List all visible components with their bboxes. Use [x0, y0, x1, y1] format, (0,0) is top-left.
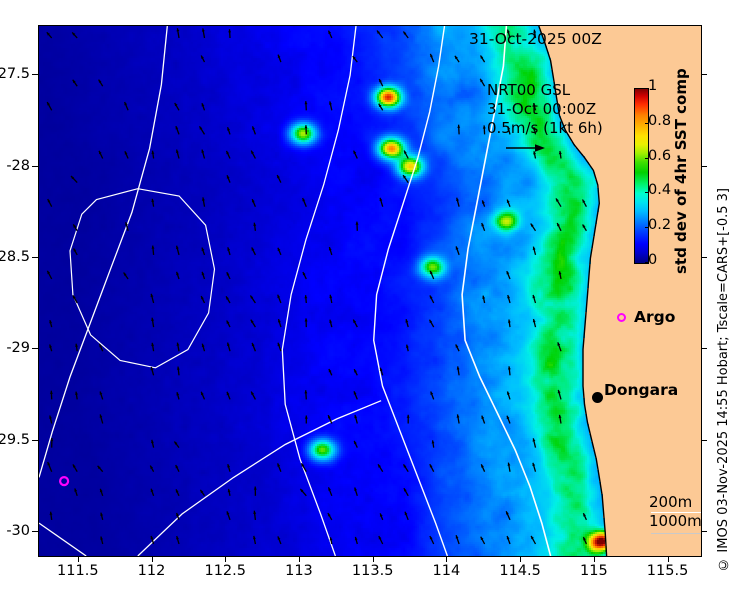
y-axis-tick-mark — [32, 348, 38, 349]
colorbar-tick-label: 0.4 — [648, 182, 671, 198]
y-axis-tick-mark — [32, 531, 38, 532]
bathymetry-1000m-label: 1000m — [649, 512, 702, 530]
x-axis-tick-label: 112.5 — [204, 563, 246, 579]
x-axis-tick-mark — [520, 556, 521, 562]
x-axis-tick-mark — [594, 556, 595, 562]
argo-legend-label: Argo — [634, 308, 675, 326]
right-axis-tick-mark — [701, 531, 707, 532]
colorbar — [634, 88, 649, 264]
x-axis-tick-label: 115 — [580, 563, 608, 579]
bathymetry-contour — [39, 523, 86, 556]
y-axis-tick-label: -29.5 — [0, 432, 30, 448]
x-axis-tick-label: 113 — [285, 563, 313, 579]
bathymetry-200m-label: 200m — [649, 493, 692, 511]
y-axis-tick-mark — [32, 440, 38, 441]
y-axis-tick-label: -30 — [6, 523, 30, 539]
bathymetry-contour — [39, 26, 167, 477]
bathymetry-contour — [374, 26, 448, 556]
right-axis-tick-mark — [701, 166, 707, 167]
bathymetry-1000m-line-sample — [651, 533, 702, 534]
colorbar-tick-label: 1 — [648, 78, 657, 94]
x-axis-tick-mark — [152, 556, 153, 562]
y-axis-tick-label: -29 — [6, 340, 30, 356]
y-axis-tick-mark — [32, 257, 38, 258]
right-axis-tick-mark — [701, 74, 707, 75]
y-axis-tick-label: -28 — [6, 158, 30, 174]
bathymetry-contour — [138, 401, 381, 556]
map-vector-overlay — [39, 26, 701, 556]
x-axis-tick-label: 112 — [138, 563, 166, 579]
x-axis-tick-mark — [446, 556, 447, 562]
colorbar-tick-label: 0.6 — [648, 148, 671, 164]
right-axis-tick-mark — [701, 440, 707, 441]
figure-root: 31-Oct-2025 00Z NRT00 GSL 31-Oct 00:00Z … — [0, 0, 740, 592]
x-axis-tick-label: 115.5 — [647, 563, 689, 579]
colorbar-tick-label: 0.2 — [648, 217, 671, 233]
right-axis-tick-mark — [701, 257, 707, 258]
colorbar-tick-label: 0.8 — [648, 113, 671, 129]
x-axis-tick-mark — [78, 556, 79, 562]
product-label-line1: NRT00 GSL — [487, 81, 570, 99]
x-axis-tick-label: 113.5 — [352, 563, 394, 579]
bathymetry-contour — [70, 189, 215, 368]
y-axis-tick-mark — [32, 166, 38, 167]
x-axis-tick-mark — [373, 556, 374, 562]
colorbar-title: std dev of 4hr SST comp — [672, 74, 690, 274]
right-axis-tick-mark — [701, 348, 707, 349]
map-plot-area[interactable]: 31-Oct-2025 00Z NRT00 GSL 31-Oct 00:00Z … — [38, 25, 702, 557]
x-axis-tick-mark — [299, 556, 300, 562]
dongara-city-label: Dongara — [604, 381, 678, 399]
x-axis-tick-label: 114 — [433, 563, 461, 579]
x-axis-tick-mark — [225, 556, 226, 562]
product-label-line3: 0.5m/s (1kt 6h) — [487, 119, 603, 137]
x-axis-tick-label: 114.5 — [499, 563, 541, 579]
product-label-line2: 31-Oct 00:00Z — [487, 100, 596, 118]
argo-float-marker-icon[interactable] — [60, 477, 68, 485]
y-axis-tick-mark — [32, 74, 38, 75]
date-title: 31-Oct-2025 00Z — [469, 30, 602, 48]
credit-text: © IMOS 03-Nov-2025 14:55 Hobart; Tscale=… — [716, 188, 731, 572]
bathymetry-200m-line-sample — [651, 512, 702, 513]
y-axis-tick-label: -27.5 — [0, 66, 30, 82]
dongara-city-marker-icon — [592, 392, 603, 403]
colorbar-tick-label: 0 — [648, 252, 657, 268]
x-axis-tick-label: 111.5 — [57, 563, 99, 579]
velocity-reference-arrow-icon — [505, 142, 545, 154]
x-axis-tick-mark — [668, 556, 669, 562]
bathymetry-contour — [282, 26, 356, 556]
y-axis-tick-label: -28.5 — [0, 249, 30, 265]
argo-legend-marker-icon — [617, 313, 626, 322]
